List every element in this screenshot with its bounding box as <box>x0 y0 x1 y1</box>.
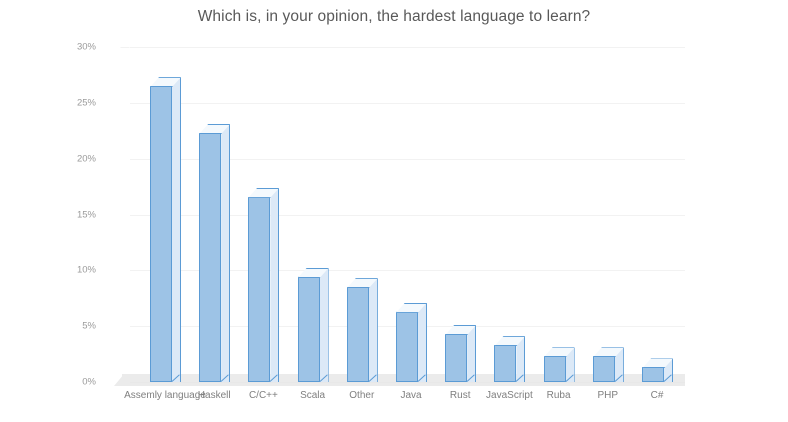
bar-front-face <box>494 345 516 382</box>
bar-side-face <box>467 325 476 382</box>
y-axis-tick-label: 0% <box>56 377 96 388</box>
bar-side-face <box>418 303 427 382</box>
bar-column[interactable] <box>298 277 320 382</box>
bar-column[interactable] <box>445 334 467 382</box>
bar-column[interactable] <box>150 86 172 382</box>
axis-baseline <box>130 382 685 383</box>
bar-column[interactable] <box>396 312 418 382</box>
bar-column[interactable] <box>642 367 664 382</box>
gridline <box>130 47 685 48</box>
bar-front-face <box>150 86 172 382</box>
bar-side-face <box>320 268 329 382</box>
y-axis-tick-label: 15% <box>56 209 96 220</box>
gridline <box>130 103 685 104</box>
chart-container: Which is, in your opinion, the hardest l… <box>0 0 788 422</box>
chart-title: Which is, in your opinion, the hardest l… <box>0 8 788 26</box>
bar-front-face <box>248 197 270 382</box>
bar-front-face <box>544 356 566 382</box>
y-axis-tick-label: 30% <box>56 42 96 53</box>
bar-column[interactable] <box>347 287 369 382</box>
y-axis-tick-label: 10% <box>56 265 96 276</box>
gridline-perspective-edge <box>111 38 130 48</box>
bar-side-face <box>172 77 181 382</box>
bar-column[interactable] <box>199 133 221 382</box>
bar-side-face <box>221 124 230 382</box>
bar-side-face <box>369 278 378 382</box>
y-axis-tick-label: 5% <box>56 321 96 332</box>
bar-side-face <box>270 188 279 382</box>
bar-front-face <box>199 133 221 382</box>
bar-front-face <box>642 367 664 382</box>
y-axis-tick-label: 20% <box>56 153 96 164</box>
bar-front-face <box>396 312 418 382</box>
bar-column[interactable] <box>593 356 615 382</box>
plot-area <box>130 47 685 382</box>
bar-front-face <box>593 356 615 382</box>
bar-column[interactable] <box>248 197 270 382</box>
bar-front-face <box>298 277 320 382</box>
y-axis-tick-label: 25% <box>56 97 96 108</box>
x-axis-category-label: C# <box>614 390 700 402</box>
bar-front-face <box>445 334 467 382</box>
bar-front-face <box>347 287 369 382</box>
bar-column[interactable] <box>494 345 516 382</box>
bar-column[interactable] <box>544 356 566 382</box>
